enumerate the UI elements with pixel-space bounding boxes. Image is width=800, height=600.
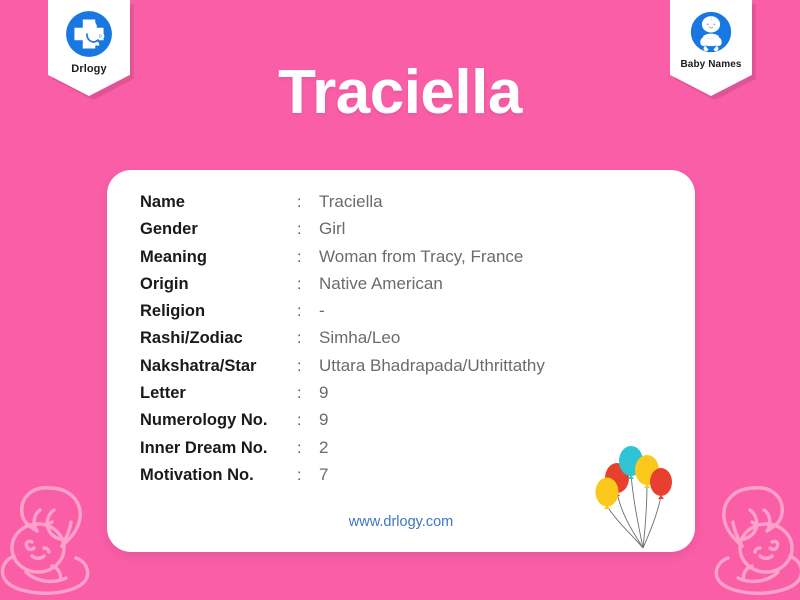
row-colon: : (297, 330, 319, 348)
table-row: Rashi/Zodiac : Simha/Leo (140, 328, 545, 355)
row-colon: : (297, 440, 319, 458)
row-value-rashi-zodiac: Simha/Leo (319, 328, 400, 348)
row-label-origin: Origin (140, 275, 297, 294)
table-row: Religion : - (140, 301, 545, 328)
row-label-rashi-zodiac: Rashi/Zodiac (140, 329, 297, 348)
mother-and-baby-icon (0, 470, 112, 600)
row-label-inner-dream-no: Inner Dream No. (140, 439, 297, 458)
page-title: Traciella (0, 62, 800, 124)
row-colon: : (297, 303, 319, 321)
row-colon: : (297, 412, 319, 430)
row-colon: : (297, 276, 319, 294)
svg-text:P: P (99, 35, 102, 40)
table-row: Inner Dream No. : 2 (140, 438, 545, 465)
row-value-name: Traciella (319, 192, 383, 212)
table-row: Numerology No. : 9 (140, 410, 545, 437)
row-label-meaning: Meaning (140, 248, 297, 267)
row-colon: : (297, 467, 319, 485)
row-value-nakshatra-star: Uttara Bhadrapada/Uthrittathy (319, 356, 545, 376)
row-value-motivation-no: 7 (319, 465, 328, 485)
row-colon: : (297, 385, 319, 403)
table-row: Origin : Native American (140, 274, 545, 301)
table-row: Meaning : Woman from Tracy, France (140, 247, 545, 274)
table-row: Letter : 9 (140, 383, 545, 410)
row-label-gender: Gender (140, 220, 297, 239)
name-info-card: Name : Traciella Gender : Girl Meaning :… (107, 170, 695, 552)
row-colon: : (297, 358, 319, 376)
row-value-origin: Native American (319, 274, 443, 294)
detail-rows: Name : Traciella Gender : Girl Meaning :… (140, 192, 545, 492)
row-label-name: Name (140, 193, 297, 212)
table-row: Name : Traciella (140, 192, 545, 219)
row-value-inner-dream-no: 2 (319, 438, 328, 458)
row-label-nakshatra-star: Nakshatra/Star (140, 357, 297, 376)
row-value-gender: Girl (319, 219, 345, 239)
row-value-numerology-no: 9 (319, 410, 328, 430)
mother-and-baby-icon (692, 470, 800, 600)
row-colon: : (297, 249, 319, 267)
row-label-religion: Religion (140, 302, 297, 321)
row-value-letter: 9 (319, 383, 328, 403)
table-row: Motivation No. : 7 (140, 465, 545, 492)
row-label-numerology-no: Numerology No. (140, 411, 297, 430)
table-row: Nakshatra/Star : Uttara Bhadrapada/Uthri… (140, 356, 545, 383)
doctor-badge-icon: P (63, 8, 115, 60)
table-row: Gender : Girl (140, 219, 545, 246)
row-label-motivation-no: Motivation No. (140, 466, 297, 485)
baby-icon (687, 8, 735, 56)
row-value-meaning: Woman from Tracy, France (319, 247, 523, 267)
row-colon: : (297, 194, 319, 212)
row-colon: : (297, 221, 319, 239)
row-label-letter: Letter (140, 384, 297, 403)
row-value-religion: - (319, 301, 325, 321)
balloons-icon (595, 444, 687, 552)
website-url[interactable]: www.drlogy.com (107, 514, 695, 530)
